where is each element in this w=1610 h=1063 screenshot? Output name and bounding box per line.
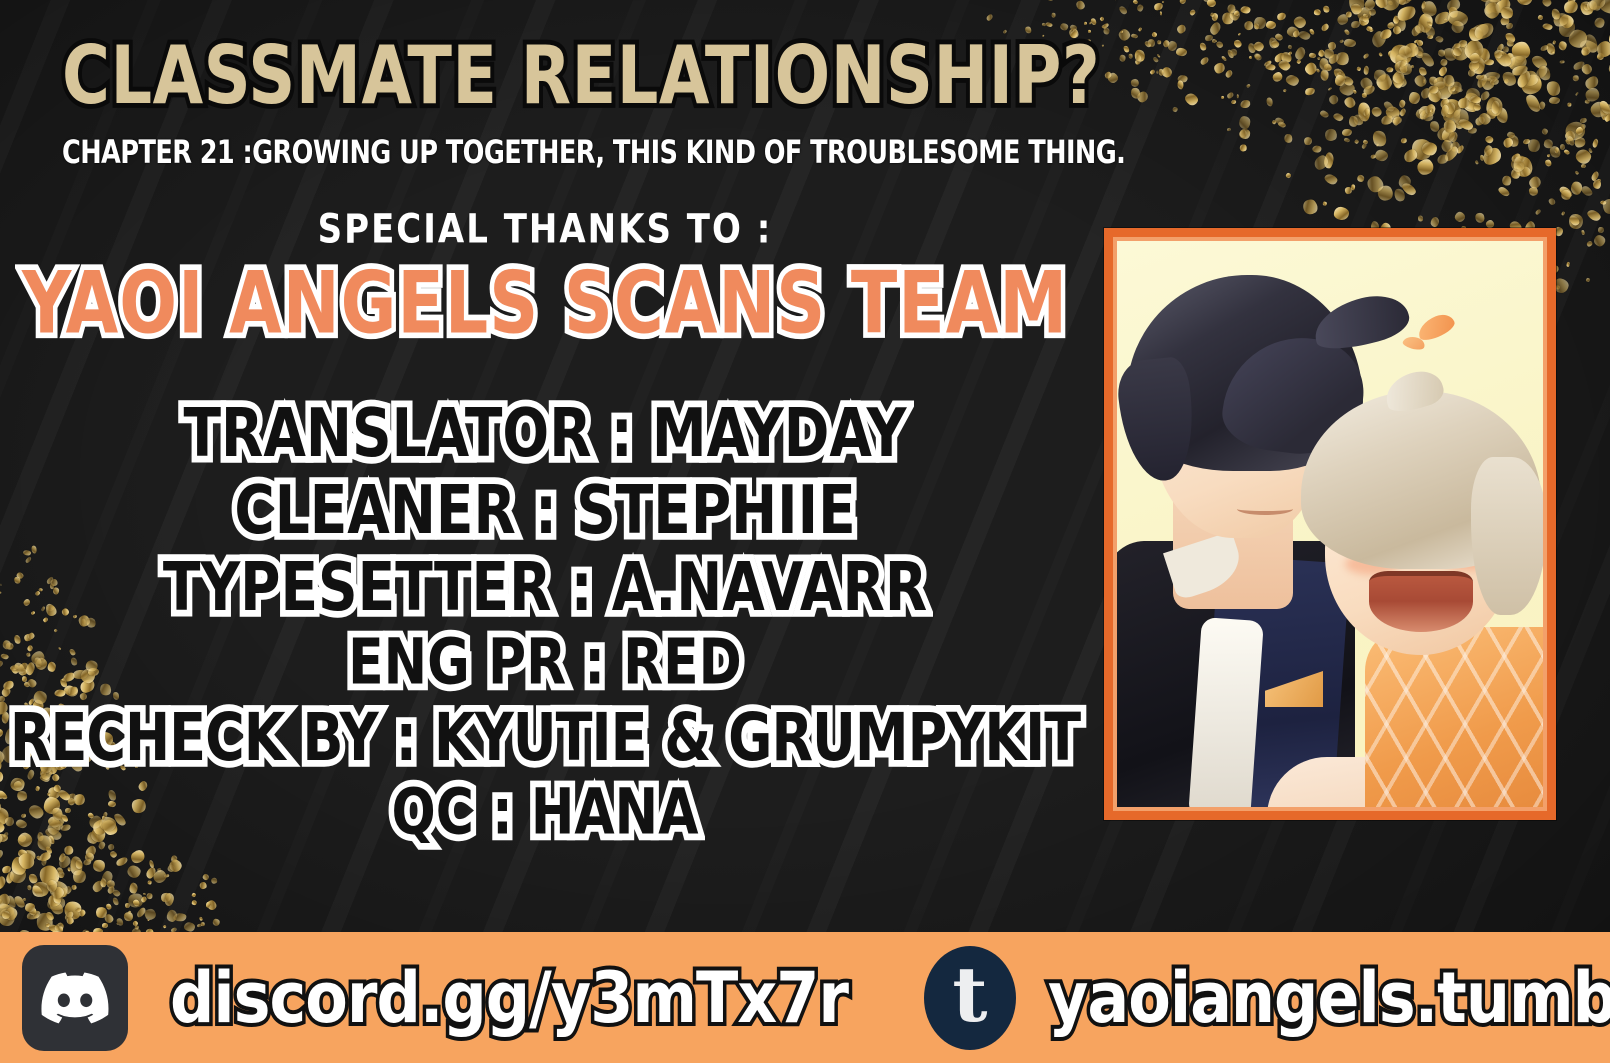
discord-icon[interactable] [22,945,128,1051]
character-right-mouth [1369,571,1473,632]
credit-row: CLEANER : STEPHIIE [0,477,1090,544]
tumblr-url-text[interactable]: yaoiangels.tumblr.com [1048,956,1610,1039]
artwork-image [1113,237,1547,811]
tumblr-link[interactable]: t yaoiangels.tumblr.com [906,946,1610,1050]
credit-row: RECHECK BY : KYUTIE & GRUMPYKIT [0,705,1090,771]
discord-link[interactable]: discord.gg/y3mTx7r [0,945,848,1051]
tumblr-icon[interactable]: t [924,946,1016,1050]
credit-row: QC : HANA [0,781,1090,844]
discord-url-text[interactable]: discord.gg/y3mTx7r [170,956,848,1039]
character-left-undershirt [1188,617,1264,811]
character-left-mouth [1237,503,1293,515]
chapter-subtitle: CHAPTER 21 :GROWING UP TOGETHER, THIS KI… [62,135,1125,172]
credit-row: TRANSLATOR : MAYDAY [0,400,1090,467]
special-thanks-label: SPECIAL THANKS TO : [0,206,1090,253]
credits-column: CLASSMATE RELATIONSHIP? CHAPTER 21 :GROW… [0,0,1090,932]
artwork-frame [1104,228,1556,820]
scan-team-name: YAOI ANGELS SCANS TEAM [0,262,1090,348]
social-footer: discord.gg/y3mTx7r t yaoiangels.tumblr.c… [0,932,1610,1063]
credit-row: ENG PR : RED [0,631,1090,694]
credit-row: TYPESETTER : A.NAVARR [0,554,1090,621]
tumblr-glyph: t [952,961,987,1029]
credits-list: TRANSLATOR : MAYDAY CLEANER : STEPHIIE T… [0,400,1090,855]
page-title: CLASSMATE RELATIONSHIP? [62,36,1100,117]
credits-page: CLASSMATE RELATIONSHIP? CHAPTER 21 :GROW… [0,0,1610,1063]
character-right-scarf [1365,627,1547,811]
scarf-pattern [1365,627,1547,811]
